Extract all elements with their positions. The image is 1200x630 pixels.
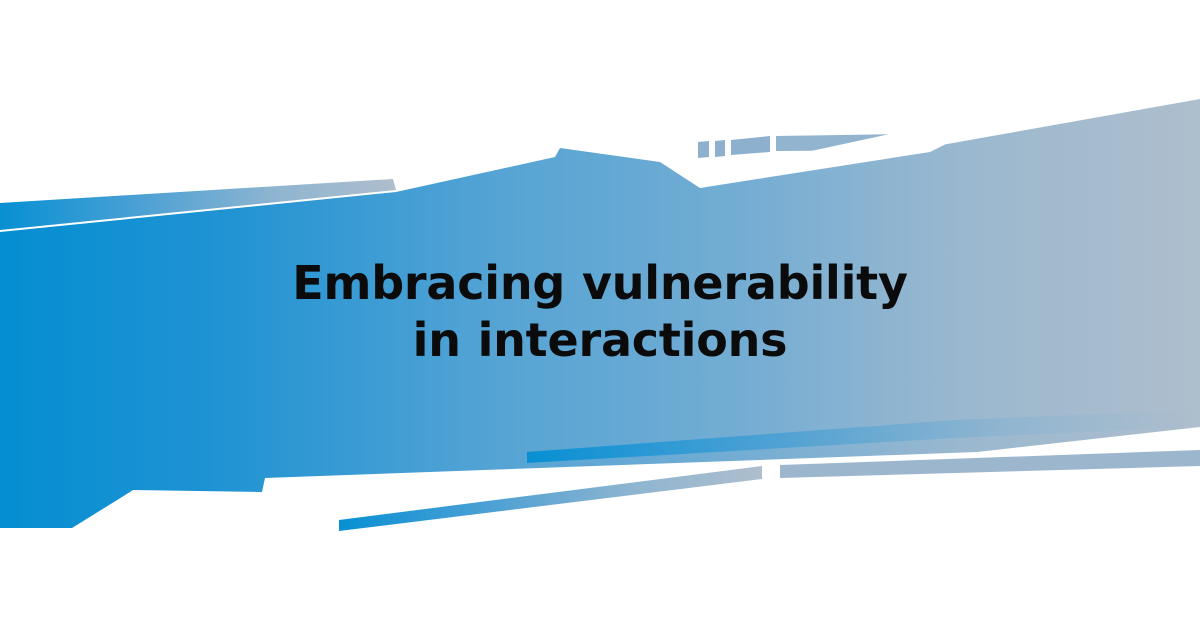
top-dash-tick-3 <box>731 136 770 155</box>
bottom-left-accent-stripe <box>339 466 762 531</box>
banner-card: Embracing vulnerability in interactions <box>0 0 1200 630</box>
top-dash-tick-1 <box>698 141 709 158</box>
main-shape-group <box>0 99 1200 531</box>
banner-background-art <box>0 0 1200 630</box>
top-dash-tick-2 <box>715 140 725 157</box>
